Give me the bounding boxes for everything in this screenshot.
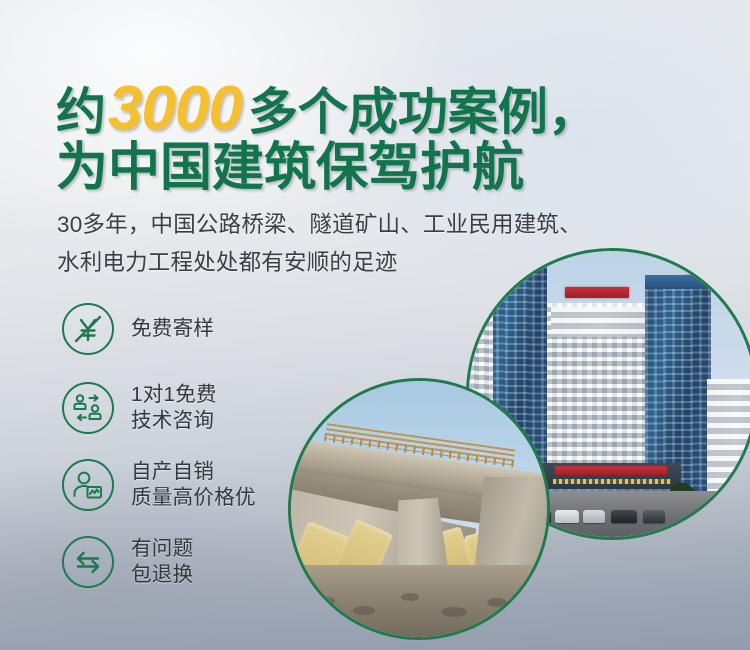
gravel: [487, 598, 507, 607]
feature-text-self-production: 自产自销 质量高价格优: [131, 459, 256, 511]
headline-line-1: 约3000多个成功案例，: [56, 78, 696, 140]
parked-car: [643, 510, 665, 523]
feature-line: 技术咨询: [131, 408, 217, 434]
feature-line: 质量高价格优: [131, 485, 256, 511]
headline-prefix: 约: [56, 84, 106, 140]
yen-slash-icon: [62, 303, 114, 355]
parked-car: [611, 510, 637, 523]
swap-arrows-icon: [62, 536, 114, 588]
feature-line: 自产自销: [131, 459, 256, 485]
rooftop-red-sign: [565, 287, 629, 298]
promo-banner: 约3000多个成功案例， 为中国建筑保驾护航 30多年，中国公路桥梁、隧道矿山、…: [0, 0, 750, 650]
tower-left-cap: [487, 251, 547, 261]
feature-text-return-exchange: 有问题 包退换: [131, 536, 193, 588]
feature-line: 免费寄样: [131, 316, 214, 342]
person-chart-icon: [62, 459, 114, 511]
tower-center-louvers: [551, 307, 655, 337]
gravel: [441, 607, 467, 617]
parked-car: [555, 510, 579, 523]
entrance-red-sign: [555, 466, 667, 475]
gravel: [401, 593, 419, 601]
bridge-photo-content: [291, 381, 547, 637]
headline-number: 3000: [108, 74, 242, 143]
gravel: [319, 597, 335, 605]
tower-right-cap: [645, 275, 711, 289]
headline: 约3000多个成功案例， 为中国建筑保驾护航: [56, 78, 696, 200]
feature-text-consultation: 1对1免费 技术咨询: [131, 382, 217, 434]
bridge-photo: [288, 378, 550, 640]
gravel: [353, 606, 375, 615]
feature-text-free-sample: 免费寄样: [131, 316, 214, 342]
feature-item-free-sample[interactable]: 免费寄样: [62, 300, 352, 358]
feature-line: 有问题: [131, 536, 193, 562]
subtitle-line-1: 30多年，中国公路桥梁、隧道矿山、工业民用建筑、: [57, 206, 707, 244]
headline-line-2-text: 为中国建筑保驾护航: [56, 139, 524, 197]
two-people-exchange-icon: [62, 382, 114, 434]
feature-line: 1对1免费: [131, 382, 217, 408]
parked-car: [583, 510, 605, 523]
headline-line-2: 为中国建筑保驾护航: [56, 142, 696, 200]
entrance-gold-trim: [553, 479, 671, 484]
feature-line: 包退换: [131, 562, 193, 588]
headline-suffix: 多个成功案例，: [248, 84, 598, 140]
